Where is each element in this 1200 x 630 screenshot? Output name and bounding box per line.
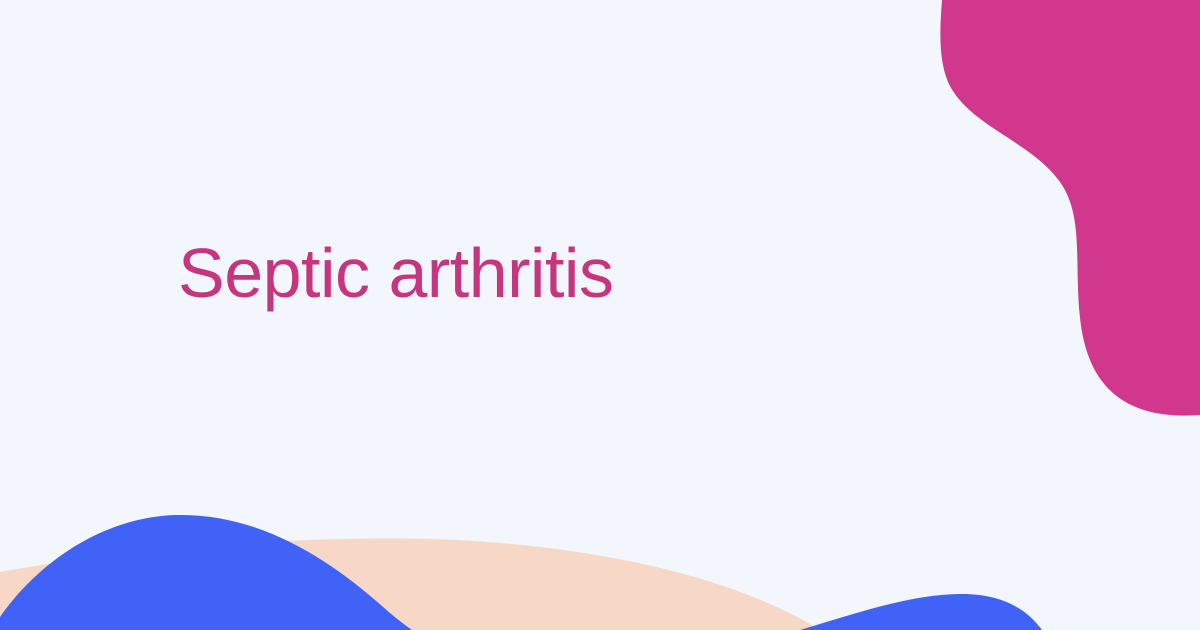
title-container: Septic arthritis bbox=[0, 0, 1200, 630]
page-title: Septic arthritis bbox=[0, 234, 673, 312]
social-preview-card: Septic arthritis bbox=[0, 0, 1200, 630]
